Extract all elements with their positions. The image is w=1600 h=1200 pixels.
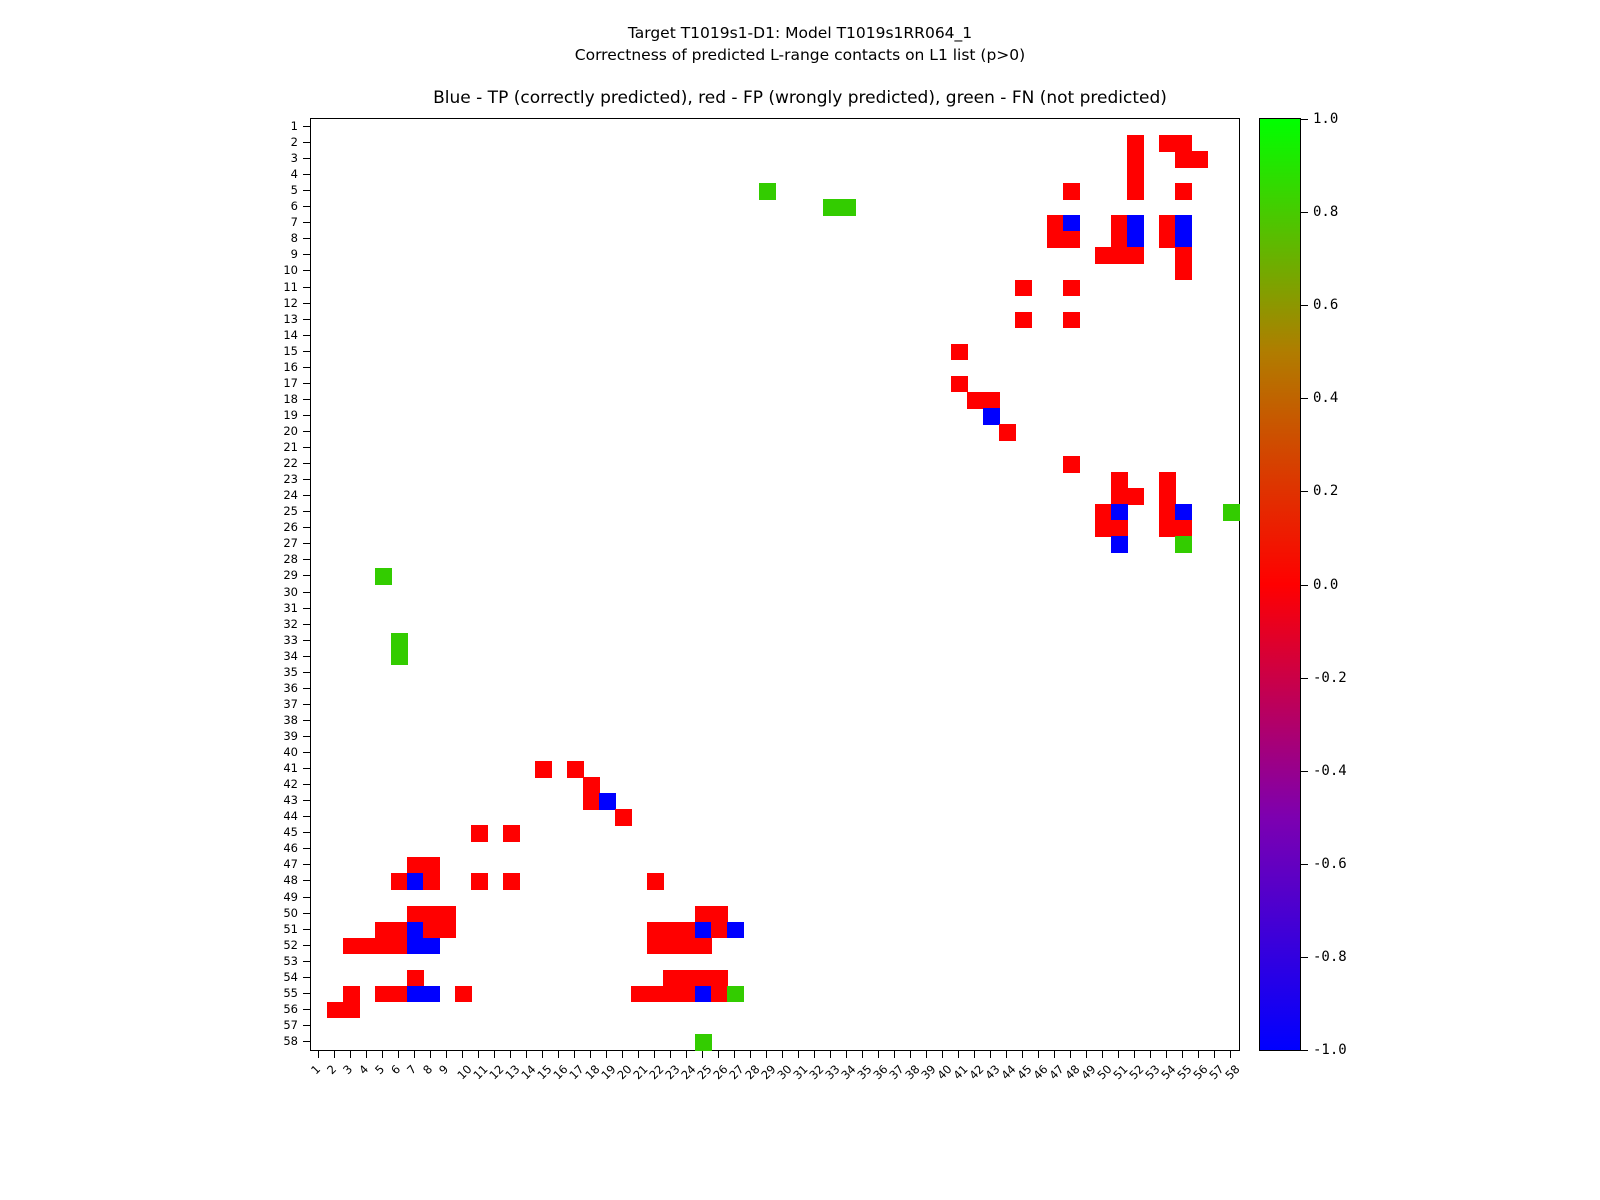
x-tick-mark bbox=[878, 1051, 879, 1058]
y-tick-mark bbox=[303, 303, 310, 304]
x-tick-mark bbox=[606, 1051, 607, 1058]
heatmap-cell bbox=[647, 938, 664, 955]
y-tick-label: 50 bbox=[283, 906, 298, 920]
colorbar-tick-label: 0.2 bbox=[1313, 483, 1338, 499]
heatmap-cell bbox=[711, 906, 728, 923]
heatmap-cell bbox=[391, 938, 408, 955]
heatmap-cell bbox=[375, 938, 392, 955]
heatmap-cell bbox=[423, 922, 440, 939]
y-tick-mark bbox=[303, 977, 310, 978]
heatmap-cell bbox=[1127, 183, 1144, 200]
y-tick-mark bbox=[303, 527, 310, 528]
heatmap-cell bbox=[1159, 215, 1176, 232]
y-tick-label: 19 bbox=[283, 408, 298, 422]
y-tick-label: 9 bbox=[291, 247, 298, 261]
x-tick-label: 4 bbox=[356, 1062, 371, 1077]
y-tick-mark bbox=[303, 238, 310, 239]
y-tick-mark bbox=[303, 752, 310, 753]
heatmap-cell bbox=[1095, 247, 1112, 264]
colorbar-tick-label: -0.8 bbox=[1313, 949, 1347, 965]
y-tick-label: 15 bbox=[283, 344, 298, 358]
y-tick-mark bbox=[303, 367, 310, 368]
y-tick-mark bbox=[303, 864, 310, 865]
x-tick-mark bbox=[766, 1051, 767, 1058]
x-tick-label: 1 bbox=[308, 1062, 323, 1077]
y-tick-mark bbox=[303, 270, 310, 271]
y-tick-label: 39 bbox=[283, 729, 298, 743]
heatmap-cell bbox=[647, 986, 664, 1003]
y-tick-label: 2 bbox=[291, 135, 298, 149]
y-tick-label: 23 bbox=[283, 472, 298, 486]
heatmap-cell bbox=[375, 568, 392, 585]
heatmap-cell bbox=[343, 938, 360, 955]
heatmap-cell bbox=[471, 873, 488, 890]
colorbar-gradient bbox=[1259, 118, 1301, 1051]
heatmap-cell bbox=[1095, 504, 1112, 521]
heatmap-cell bbox=[391, 986, 408, 1003]
x-tick-mark bbox=[1006, 1051, 1007, 1058]
y-tick-label: 51 bbox=[283, 922, 298, 936]
heatmap-cell bbox=[1175, 151, 1192, 168]
y-tick-mark bbox=[303, 319, 310, 320]
x-tick-mark bbox=[366, 1051, 367, 1058]
heatmap-cell bbox=[679, 986, 696, 1003]
heatmap-cell bbox=[1159, 520, 1176, 537]
x-tick-mark bbox=[1166, 1051, 1167, 1058]
y-tick-label: 25 bbox=[283, 504, 298, 518]
heatmap-cell bbox=[663, 970, 680, 987]
y-tick-label: 8 bbox=[291, 231, 298, 245]
heatmap-cell bbox=[951, 344, 968, 361]
y-tick-label: 35 bbox=[283, 665, 298, 679]
heatmap-cell bbox=[983, 392, 1000, 409]
x-tick-mark bbox=[670, 1051, 671, 1058]
heatmap-cell bbox=[1111, 536, 1128, 553]
colorbar-tick-label: -0.2 bbox=[1313, 670, 1347, 686]
y-tick-label: 28 bbox=[283, 552, 298, 566]
heatmap-cell bbox=[343, 1002, 360, 1019]
x-tick-mark bbox=[750, 1051, 751, 1058]
heatmap-cell bbox=[663, 986, 680, 1003]
y-tick-label: 27 bbox=[283, 536, 298, 550]
heatmap-cell bbox=[503, 873, 520, 890]
colorbar-tick-mark bbox=[1301, 119, 1308, 120]
heatmap-cell bbox=[391, 649, 408, 666]
heatmap-cell bbox=[471, 825, 488, 842]
y-tick-label: 52 bbox=[283, 938, 298, 952]
y-tick-label: 34 bbox=[283, 649, 298, 663]
y-tick-mark bbox=[303, 961, 310, 962]
x-tick-mark bbox=[782, 1051, 783, 1058]
x-tick-mark bbox=[382, 1051, 383, 1058]
x-tick-mark bbox=[638, 1051, 639, 1058]
heatmap-cell bbox=[391, 873, 408, 890]
y-tick-label: 53 bbox=[283, 954, 298, 968]
heatmap-cell bbox=[583, 777, 600, 794]
heatmap-cell bbox=[583, 793, 600, 810]
heatmap-cell bbox=[1127, 135, 1144, 152]
x-tick-mark bbox=[1230, 1051, 1231, 1058]
heatmap-cell bbox=[567, 761, 584, 778]
y-tick-mark bbox=[303, 688, 310, 689]
x-tick-mark bbox=[462, 1051, 463, 1058]
heatmap-cell bbox=[839, 199, 856, 216]
heatmap-cell bbox=[679, 970, 696, 987]
heatmap-cell bbox=[1063, 456, 1080, 473]
heatmap-cell bbox=[439, 922, 456, 939]
y-tick-mark bbox=[303, 126, 310, 127]
y-tick-mark bbox=[303, 929, 310, 930]
x-tick-mark bbox=[430, 1051, 431, 1058]
y-tick-mark bbox=[303, 800, 310, 801]
heatmap-cell bbox=[1175, 263, 1192, 280]
heatmap-cell bbox=[1095, 520, 1112, 537]
y-tick-label: 48 bbox=[283, 873, 298, 887]
heatmap-cell bbox=[951, 376, 968, 393]
x-tick-mark bbox=[574, 1051, 575, 1058]
heatmap-cell bbox=[1063, 231, 1080, 248]
x-tick-mark bbox=[590, 1051, 591, 1058]
y-tick-mark bbox=[303, 335, 310, 336]
y-tick-mark bbox=[303, 897, 310, 898]
heatmap-cell bbox=[1175, 247, 1192, 264]
heatmap-cell bbox=[1127, 167, 1144, 184]
x-tick-mark bbox=[894, 1051, 895, 1058]
heatmap-cell bbox=[983, 408, 1000, 425]
legend-subtitle: Blue - TP (correctly predicted), red - F… bbox=[0, 88, 1600, 108]
x-tick-mark bbox=[702, 1051, 703, 1058]
y-tick-label: 42 bbox=[283, 777, 298, 791]
y-tick-mark bbox=[303, 993, 310, 994]
colorbar-tick-mark bbox=[1301, 585, 1308, 586]
heatmap-cell bbox=[407, 986, 424, 1003]
y-tick-mark bbox=[303, 447, 310, 448]
y-tick-label: 5 bbox=[291, 183, 298, 197]
x-tick-mark bbox=[990, 1051, 991, 1058]
x-tick-mark bbox=[686, 1051, 687, 1058]
y-tick-mark bbox=[303, 880, 310, 881]
y-tick-label: 17 bbox=[283, 376, 298, 390]
y-tick-label: 16 bbox=[283, 360, 298, 374]
colorbar-tick-label: -0.4 bbox=[1313, 763, 1347, 779]
y-tick-label: 45 bbox=[283, 825, 298, 839]
colorbar-tick-label: -0.6 bbox=[1313, 856, 1347, 872]
x-tick-mark bbox=[654, 1051, 655, 1058]
heatmap-cell bbox=[1047, 231, 1064, 248]
heatmap-cell bbox=[1223, 504, 1240, 521]
x-tick-mark bbox=[910, 1051, 911, 1058]
colorbar-tick-mark bbox=[1301, 771, 1308, 772]
heatmap-cell bbox=[1127, 247, 1144, 264]
x-tick-label: 6 bbox=[388, 1062, 403, 1077]
heatmap-cell bbox=[1063, 215, 1080, 232]
heatmap-cell bbox=[1047, 215, 1064, 232]
heatmap-cell bbox=[1127, 488, 1144, 505]
y-tick-mark bbox=[303, 1025, 310, 1026]
x-tick-mark bbox=[558, 1051, 559, 1058]
heatmap-cell bbox=[407, 938, 424, 955]
y-tick-label: 32 bbox=[283, 617, 298, 631]
y-tick-label: 20 bbox=[283, 424, 298, 438]
heatmap-cell bbox=[1159, 488, 1176, 505]
y-tick-mark bbox=[303, 720, 310, 721]
y-tick-mark bbox=[303, 254, 310, 255]
y-tick-mark bbox=[303, 543, 310, 544]
heatmap-cell bbox=[1111, 215, 1128, 232]
heatmap-cell bbox=[1063, 312, 1080, 329]
heatmap-cell bbox=[647, 922, 664, 939]
y-tick-mark bbox=[303, 559, 310, 560]
x-tick-mark bbox=[958, 1051, 959, 1058]
y-tick-mark bbox=[303, 1009, 310, 1010]
y-tick-mark bbox=[303, 495, 310, 496]
heatmap-cell bbox=[679, 938, 696, 955]
y-tick-label: 13 bbox=[283, 312, 298, 326]
heatmap-cell bbox=[679, 922, 696, 939]
y-tick-mark bbox=[303, 656, 310, 657]
heatmap-cell bbox=[1175, 183, 1192, 200]
y-tick-mark bbox=[303, 640, 310, 641]
x-tick-mark bbox=[1038, 1051, 1039, 1058]
y-tick-mark bbox=[303, 431, 310, 432]
y-tick-mark bbox=[303, 575, 310, 576]
heatmap-cell bbox=[407, 857, 424, 874]
x-tick-mark bbox=[1198, 1051, 1199, 1058]
y-tick-label: 4 bbox=[291, 167, 298, 181]
y-tick-mark bbox=[303, 399, 310, 400]
y-tick-label: 7 bbox=[291, 215, 298, 229]
heatmap-cell bbox=[1159, 504, 1176, 521]
y-tick-mark bbox=[303, 592, 310, 593]
heatmap-cell bbox=[999, 424, 1016, 441]
y-tick-label: 49 bbox=[283, 890, 298, 904]
heatmap-cell bbox=[1159, 231, 1176, 248]
y-tick-label: 47 bbox=[283, 857, 298, 871]
heatmap-cell bbox=[391, 922, 408, 939]
colorbar-tick-label: 0.6 bbox=[1313, 297, 1338, 313]
colorbar-tick-mark bbox=[1301, 305, 1308, 306]
title-line-1: Target T1019s1-D1: Model T1019s1RR064_1 bbox=[0, 22, 1600, 44]
y-tick-mark bbox=[303, 816, 310, 817]
heatmap-cell bbox=[599, 793, 616, 810]
x-tick-mark bbox=[926, 1051, 927, 1058]
colorbar-tick-mark bbox=[1301, 491, 1308, 492]
heatmap-cell bbox=[647, 873, 664, 890]
heatmap-cell bbox=[391, 633, 408, 650]
heatmap-cell bbox=[423, 938, 440, 955]
heatmap-cell bbox=[711, 970, 728, 987]
y-tick-label: 55 bbox=[283, 986, 298, 1000]
y-tick-label: 6 bbox=[291, 199, 298, 213]
x-tick-label: 9 bbox=[436, 1062, 451, 1077]
y-tick-label: 40 bbox=[283, 745, 298, 759]
y-tick-label: 18 bbox=[283, 392, 298, 406]
y-tick-mark bbox=[303, 945, 310, 946]
y-tick-label: 38 bbox=[283, 713, 298, 727]
x-tick-mark bbox=[862, 1051, 863, 1058]
heatmap-cell bbox=[695, 1034, 712, 1051]
heatmap-cell bbox=[1175, 520, 1192, 537]
y-tick-label: 21 bbox=[283, 440, 298, 454]
colorbar-tick-label: 0.4 bbox=[1313, 390, 1338, 406]
heatmap-cell bbox=[695, 938, 712, 955]
y-tick-label: 29 bbox=[283, 568, 298, 582]
contact-map-plot[interactable] bbox=[310, 118, 1240, 1051]
heatmap-cell bbox=[823, 199, 840, 216]
heatmap-cell bbox=[1127, 151, 1144, 168]
heatmap-cell bbox=[455, 986, 472, 1003]
y-tick-mark bbox=[303, 287, 310, 288]
x-tick-mark bbox=[318, 1051, 319, 1058]
heatmap-cell bbox=[1063, 280, 1080, 297]
y-tick-label: 33 bbox=[283, 633, 298, 647]
heatmap-cell bbox=[615, 809, 632, 826]
chart-page: Target T1019s1-D1: Model T1019s1RR064_1 … bbox=[0, 0, 1600, 1200]
heatmap-cell bbox=[1015, 280, 1032, 297]
x-tick-mark bbox=[814, 1051, 815, 1058]
heatmap-cell bbox=[1175, 215, 1192, 232]
heatmap-cell bbox=[423, 857, 440, 874]
y-tick-label: 24 bbox=[283, 488, 298, 502]
y-tick-label: 54 bbox=[283, 970, 298, 984]
y-tick-label: 56 bbox=[283, 1002, 298, 1016]
heatmap-cell bbox=[439, 906, 456, 923]
heatmap-cell bbox=[631, 986, 648, 1003]
x-tick-mark bbox=[1182, 1051, 1183, 1058]
y-tick-mark bbox=[303, 784, 310, 785]
y-tick-mark bbox=[303, 608, 310, 609]
x-tick-mark bbox=[1118, 1051, 1119, 1058]
heatmap-cell bbox=[375, 922, 392, 939]
y-tick-label: 36 bbox=[283, 681, 298, 695]
colorbar-tick-mark bbox=[1301, 1050, 1308, 1051]
x-tick-label: 2 bbox=[324, 1062, 339, 1077]
x-tick-mark bbox=[974, 1051, 975, 1058]
colorbar-tick-label: 1.0 bbox=[1313, 111, 1338, 127]
heatmap-cell bbox=[759, 183, 776, 200]
colorbar-tick-mark bbox=[1301, 678, 1308, 679]
heatmap-cell bbox=[663, 922, 680, 939]
colorbar-tick-label: 0.0 bbox=[1313, 577, 1338, 593]
x-tick-mark bbox=[1054, 1051, 1055, 1058]
colorbar-axis: 1.00.80.60.40.20.0-0.2-0.4-0.6-0.8-1.0 bbox=[1301, 118, 1391, 1051]
y-tick-mark bbox=[303, 463, 310, 464]
y-tick-label: 57 bbox=[283, 1018, 298, 1032]
heatmap-cell bbox=[695, 986, 712, 1003]
heatmap-cell bbox=[503, 825, 520, 842]
heatmap-cell bbox=[423, 986, 440, 1003]
y-tick-label: 46 bbox=[283, 841, 298, 855]
y-tick-mark bbox=[303, 511, 310, 512]
heatmap-cell bbox=[1111, 504, 1128, 521]
heatmap-cell bbox=[1175, 231, 1192, 248]
heatmap-cell bbox=[727, 986, 744, 1003]
heatmap-cell bbox=[423, 906, 440, 923]
heatmap-cell bbox=[1015, 312, 1032, 329]
x-tick-mark bbox=[1102, 1051, 1103, 1058]
x-tick-mark bbox=[798, 1051, 799, 1058]
x-tick-mark bbox=[510, 1051, 511, 1058]
y-tick-label: 22 bbox=[283, 456, 298, 470]
colorbar-tick-mark bbox=[1301, 398, 1308, 399]
heatmap-cell bbox=[343, 986, 360, 1003]
y-tick-mark bbox=[303, 672, 310, 673]
heatmap-cell bbox=[695, 922, 712, 939]
colorbar-tick-mark bbox=[1301, 212, 1308, 213]
colorbar-tick-mark bbox=[1301, 957, 1308, 958]
heatmap-cell bbox=[1063, 183, 1080, 200]
y-tick-mark bbox=[303, 206, 310, 207]
x-tick-mark bbox=[1070, 1051, 1071, 1058]
heatmap-cell bbox=[327, 1002, 344, 1019]
y-tick-mark bbox=[303, 190, 310, 191]
x-tick-label: 58 bbox=[1222, 1062, 1242, 1082]
x-tick-mark bbox=[1150, 1051, 1151, 1058]
x-tick-mark bbox=[734, 1051, 735, 1058]
x-tick-mark bbox=[398, 1051, 399, 1058]
x-tick-label: 3 bbox=[340, 1062, 355, 1077]
x-tick-mark bbox=[494, 1051, 495, 1058]
x-tick-label: 8 bbox=[420, 1062, 435, 1077]
x-tick-mark bbox=[1134, 1051, 1135, 1058]
heatmap-cell bbox=[375, 986, 392, 1003]
heatmap-cells bbox=[311, 119, 1239, 1050]
heatmap-cell bbox=[407, 970, 424, 987]
colorbar-tick-label: 0.8 bbox=[1313, 204, 1338, 220]
y-tick-label: 30 bbox=[283, 585, 298, 599]
heatmap-cell bbox=[1111, 247, 1128, 264]
x-tick-mark bbox=[1022, 1051, 1023, 1058]
heatmap-cell bbox=[695, 970, 712, 987]
heatmap-cell bbox=[711, 986, 728, 1003]
y-tick-label: 58 bbox=[283, 1034, 298, 1048]
x-tick-mark bbox=[1214, 1051, 1215, 1058]
y-tick-mark bbox=[303, 174, 310, 175]
heatmap-cell bbox=[1111, 488, 1128, 505]
y-tick-label: 37 bbox=[283, 697, 298, 711]
y-tick-mark bbox=[303, 142, 310, 143]
heatmap-cell bbox=[535, 761, 552, 778]
y-tick-label: 1 bbox=[291, 119, 298, 133]
heatmap-cell bbox=[711, 922, 728, 939]
heatmap-cell bbox=[1175, 504, 1192, 521]
y-tick-label: 14 bbox=[283, 328, 298, 342]
x-tick-mark bbox=[414, 1051, 415, 1058]
heatmap-cell bbox=[695, 906, 712, 923]
chart-title: Target T1019s1-D1: Model T1019s1RR064_1 … bbox=[0, 22, 1600, 66]
heatmap-cell bbox=[1159, 472, 1176, 489]
y-tick-label: 26 bbox=[283, 520, 298, 534]
y-tick-label: 3 bbox=[291, 151, 298, 165]
heatmap-cell bbox=[1111, 472, 1128, 489]
y-tick-mark bbox=[303, 768, 310, 769]
y-tick-label: 41 bbox=[283, 761, 298, 775]
y-tick-mark bbox=[303, 479, 310, 480]
colorbar-tick-mark bbox=[1301, 864, 1308, 865]
heatmap-cell bbox=[1111, 520, 1128, 537]
y-axis: 1234567891011121314151617181920212223242… bbox=[250, 118, 310, 1051]
x-tick-mark bbox=[718, 1051, 719, 1058]
heatmap-cell bbox=[727, 922, 744, 939]
y-tick-mark bbox=[303, 624, 310, 625]
x-tick-mark bbox=[1086, 1051, 1087, 1058]
x-axis: 1234567891011121314151617181920212223242… bbox=[310, 1051, 1240, 1141]
y-tick-mark bbox=[303, 832, 310, 833]
x-tick-mark bbox=[446, 1051, 447, 1058]
heatmap-cell bbox=[423, 873, 440, 890]
x-tick-mark bbox=[350, 1051, 351, 1058]
x-tick-mark bbox=[942, 1051, 943, 1058]
